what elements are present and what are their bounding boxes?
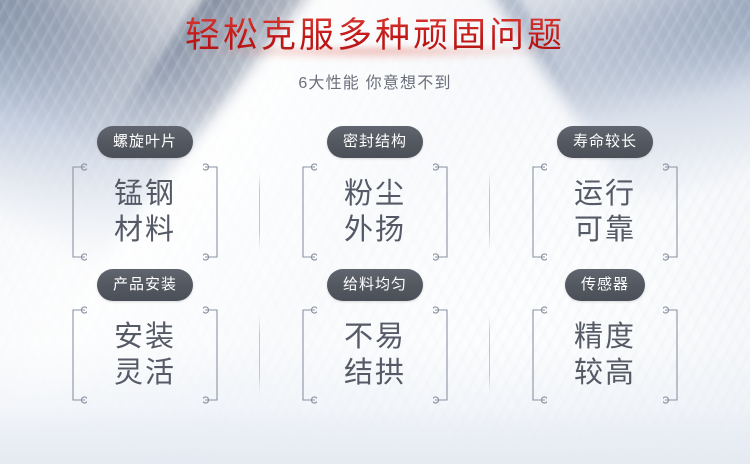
feature-text: 安装 灵活 — [114, 319, 176, 391]
banner-header: 轻松克服多种顽固问题 6大性能 你意想不到 — [0, 14, 750, 95]
bracket-left-icon — [69, 162, 87, 262]
feature-line-1: 精度 — [574, 319, 636, 355]
feature-line-2: 可靠 — [574, 212, 636, 248]
bottom-fade-band — [0, 408, 750, 464]
bracket-right-icon — [203, 162, 221, 262]
feature-card: 密封结构 粉尘 外扬 — [260, 126, 490, 269]
feature-bracket-box: 不易 结拱 — [299, 305, 451, 405]
feature-badge: 传感器 — [565, 269, 645, 301]
feature-bracket-box: 精度 较高 — [529, 305, 681, 405]
feature-line-2: 较高 — [574, 355, 636, 391]
bracket-left-icon — [529, 305, 547, 405]
feature-bracket-box: 运行 可靠 — [529, 162, 681, 262]
promo-banner: 轻松克服多种顽固问题 6大性能 你意想不到 螺旋叶片 锰钢 材料 — [0, 0, 750, 464]
feature-line-2: 材料 — [114, 212, 176, 248]
title-wrapper: 轻松克服多种顽固问题 — [171, 14, 579, 64]
feature-line-1: 安装 — [114, 319, 176, 355]
bracket-left-icon — [299, 162, 317, 262]
feature-grid: 螺旋叶片 锰钢 材料 密封结构 — [30, 126, 720, 412]
bracket-left-icon — [69, 305, 87, 405]
page-subtitle: 6大性能 你意想不到 — [0, 73, 750, 95]
feature-card: 给料均匀 不易 结拱 — [260, 269, 490, 412]
feature-badge: 给料均匀 — [327, 269, 423, 301]
feature-line-2: 灵活 — [114, 355, 176, 391]
feature-bracket-box: 粉尘 外扬 — [299, 162, 451, 262]
feature-card: 寿命较长 运行 可靠 — [490, 126, 720, 269]
feature-card: 螺旋叶片 锰钢 材料 — [30, 126, 260, 269]
bracket-left-icon — [299, 305, 317, 405]
feature-badge: 密封结构 — [327, 126, 423, 158]
feature-badge: 螺旋叶片 — [97, 126, 193, 158]
page-title: 轻松克服多种顽固问题 — [185, 14, 565, 58]
feature-line-2: 结拱 — [344, 355, 406, 391]
feature-card: 传感器 精度 较高 — [490, 269, 720, 412]
feature-bracket-box: 锰钢 材料 — [69, 162, 221, 262]
feature-badge: 寿命较长 — [557, 126, 653, 158]
feature-line-1: 不易 — [344, 319, 406, 355]
feature-line-2: 外扬 — [344, 212, 406, 248]
bracket-right-icon — [433, 162, 451, 262]
bracket-left-icon — [529, 162, 547, 262]
bracket-right-icon — [663, 305, 681, 405]
feature-badge: 产品安装 — [97, 269, 193, 301]
feature-line-1: 锰钢 — [114, 176, 176, 212]
feature-text: 精度 较高 — [574, 319, 636, 391]
feature-line-1: 粉尘 — [344, 176, 406, 212]
bracket-right-icon — [663, 162, 681, 262]
feature-line-1: 运行 — [574, 176, 636, 212]
bracket-right-icon — [433, 305, 451, 405]
feature-text: 锰钢 材料 — [114, 176, 176, 248]
feature-text: 运行 可靠 — [574, 176, 636, 248]
bracket-right-icon — [203, 305, 221, 405]
feature-bracket-box: 安装 灵活 — [69, 305, 221, 405]
feature-card: 产品安装 安装 灵活 — [30, 269, 260, 412]
feature-text: 不易 结拱 — [344, 319, 406, 391]
feature-text: 粉尘 外扬 — [344, 176, 406, 248]
